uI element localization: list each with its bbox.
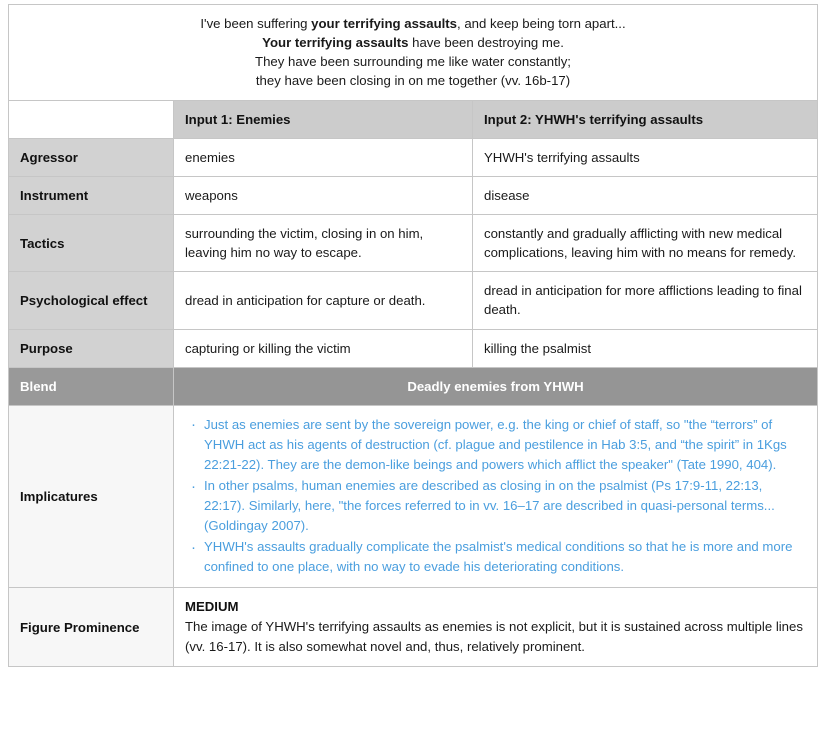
table-row-figure-prominence: Figure Prominence MEDIUM The image of YH… <box>9 588 818 667</box>
cell-implicatures: Just as enemies are sent by the sovereig… <box>174 405 818 588</box>
list-item: In other psalms, human enemies are descr… <box>202 476 806 536</box>
column-header-input-2: Input 2: YHWH's terrifying assaults <box>473 100 818 138</box>
cell-purpose-input-2: killing the psalmist <box>473 329 818 367</box>
cell-psychological-effect-input-1: dread in anticipation for capture or dea… <box>174 272 473 329</box>
poem-emphasis: your terrifying assaults <box>311 16 457 31</box>
row-label-psychological-effect: Psychological effect <box>9 272 174 329</box>
table-row-implicatures: Implicatures Just as enemies are sent by… <box>9 405 818 588</box>
implicature-list: Just as enemies are sent by the sovereig… <box>185 415 806 578</box>
table-row-agressor: Agressor enemies YHWH's terrifying assau… <box>9 138 818 176</box>
row-label-implicatures: Implicatures <box>9 405 174 588</box>
poem-line-2: Your terrifying assaults have been destr… <box>20 33 806 52</box>
cell-tactics-input-1: surrounding the victim, closing in on hi… <box>174 214 473 271</box>
row-label-blend: Blend <box>9 367 174 405</box>
table-row-purpose: Purpose capturing or killing the victim … <box>9 329 818 367</box>
row-label-tactics: Tactics <box>9 214 174 271</box>
row-label-instrument: Instrument <box>9 176 174 214</box>
cell-instrument-input-2: disease <box>473 176 818 214</box>
poem-emphasis: Your terrifying assaults <box>262 35 408 50</box>
row-label-figure-prominence: Figure Prominence <box>9 588 174 667</box>
cell-agressor-input-2: YHWH's terrifying assaults <box>473 138 818 176</box>
table-row-tactics: Tactics surrounding the victim, closing … <box>9 214 818 271</box>
list-item: Just as enemies are sent by the sovereig… <box>202 415 806 475</box>
blend-analysis-page: I've been suffering your terrifying assa… <box>0 0 825 730</box>
cell-instrument-input-1: weapons <box>174 176 473 214</box>
poem-cell: I've been suffering your terrifying assa… <box>9 5 818 101</box>
cell-psychological-effect-input-2: dread in anticipation for more afflictio… <box>473 272 818 329</box>
list-item: YHWH's assaults gradually complicate the… <box>202 537 806 577</box>
prominence-description: The image of YHWH's terrifying assaults … <box>185 617 806 657</box>
column-header-row: Input 1: Enemies Input 2: YHWH's terrify… <box>9 100 818 138</box>
cell-agressor-input-1: enemies <box>174 138 473 176</box>
column-header-input-1: Input 1: Enemies <box>174 100 473 138</box>
corner-cell <box>9 100 174 138</box>
cell-tactics-input-2: constantly and gradually afflicting with… <box>473 214 818 271</box>
cell-purpose-input-1: capturing or killing the victim <box>174 329 473 367</box>
poem-line-3: They have been surrounding me like water… <box>20 52 806 71</box>
table-row-psychological-effect: Psychological effect dread in anticipati… <box>9 272 818 329</box>
table-row-blend: Blend Deadly enemies from YHWH <box>9 367 818 405</box>
cell-figure-prominence: MEDIUM The image of YHWH's terrifying as… <box>174 588 818 667</box>
table-row-instrument: Instrument weapons disease <box>9 176 818 214</box>
row-label-agressor: Agressor <box>9 138 174 176</box>
cell-blend-value: Deadly enemies from YHWH <box>174 367 818 405</box>
poem-line-4: they have been closing in on me together… <box>20 71 806 90</box>
conceptual-blend-table: I've been suffering your terrifying assa… <box>8 4 818 667</box>
poem-row: I've been suffering your terrifying assa… <box>9 5 818 101</box>
row-label-purpose: Purpose <box>9 329 174 367</box>
prominence-level: MEDIUM <box>185 597 806 616</box>
poem-line-1: I've been suffering your terrifying assa… <box>20 14 806 33</box>
